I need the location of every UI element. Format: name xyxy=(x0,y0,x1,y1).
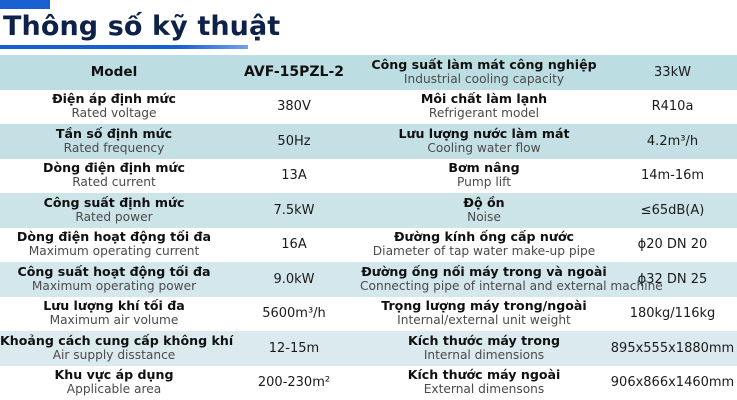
spec-label-en: External dimensons xyxy=(360,383,608,397)
spec-label-vi: Độ ồn xyxy=(360,196,608,210)
spec-label-left: Khoảng cách cung cấp không khíAir supply… xyxy=(0,331,228,366)
spec-label-en: Maximum operating current xyxy=(0,245,228,259)
spec-value-left: 12-15m xyxy=(228,331,360,366)
spec-value-left: 200-230m² xyxy=(228,366,360,400)
spec-label-right: Trọng lượng máy trong/ngoàiInternal/exte… xyxy=(360,297,608,332)
spec-label-left: Dòng điện định mứcRated current xyxy=(0,159,228,194)
table-row: Khu vực áp dụngApplicable area200-230m²K… xyxy=(0,366,737,400)
spec-label-vi: Dòng điện định mức xyxy=(0,161,228,175)
spec-label-vi: Đường kính ống cấp nước xyxy=(360,230,608,244)
spec-label-left: Khu vực áp dụngApplicable area xyxy=(0,366,228,400)
spec-value-left: 5600m³/h xyxy=(228,297,360,332)
spec-label-vi: Kích thước máy trong xyxy=(360,334,608,348)
spec-label-en: Rated power xyxy=(0,211,228,225)
spec-label-en: Applicable area xyxy=(0,383,228,397)
spec-value-left: 16A xyxy=(228,228,360,263)
spec-label-right: Công suất làm mát công nghiệpIndustrial … xyxy=(360,55,608,90)
table-row: Công suất hoạt động tối đaMaximum operat… xyxy=(0,262,737,297)
spec-sheet-page: Thông số kỹ thuật ModelAVF-15PZL-2Công s… xyxy=(0,0,737,400)
spec-label-right: Lưu lượng nước làm mátCooling water flow xyxy=(360,124,608,159)
spec-label-vi: Khu vực áp dụng xyxy=(0,368,228,382)
page-title: Thông số kỹ thuật xyxy=(3,9,280,45)
spec-label-vi: Lưu lượng nước làm mát xyxy=(360,127,608,141)
spec-value-left: 13A xyxy=(228,159,360,194)
spec-value-left: 9.0kW xyxy=(228,262,360,297)
spec-label-en: Internal/external unit weight xyxy=(360,314,608,328)
table-row: Lưu lượng khí tối đaMaximum air volume56… xyxy=(0,297,737,332)
spec-label-vi: Khoảng cách cung cấp không khí xyxy=(0,334,228,348)
spec-label-right: Môi chất làm lạnhRefrigerant model xyxy=(360,90,608,125)
spec-label-vi: Kích thước máy ngoài xyxy=(360,368,608,382)
spec-label-right: Đường kính ống cấp nướcDiameter of tap w… xyxy=(360,228,608,263)
spec-label-vi: Lưu lượng khí tối đa xyxy=(0,299,228,313)
spec-label-left: Dòng điện hoạt động tối đaMaximum operat… xyxy=(0,228,228,263)
table-row: Công suất định mứcRated power7.5kWĐộ ồnN… xyxy=(0,193,737,228)
spec-label-right: Độ ồnNoise xyxy=(360,193,608,228)
spec-value-left: 380V xyxy=(228,90,360,125)
spec-label-vi: Công suất định mức xyxy=(0,196,228,210)
spec-value-left: AVF-15PZL-2 xyxy=(228,55,360,90)
table-row: Tần số định mứcRated frequency50HzLưu lư… xyxy=(0,124,737,159)
spec-label-en: Pump lift xyxy=(360,176,608,190)
spec-label-en: Diameter of tap water make-up pipe xyxy=(360,245,608,259)
spec-label-left: Model xyxy=(0,55,228,90)
spec-value-right: ≤65dB(A) xyxy=(608,193,737,228)
spec-label-vi: Tần số định mức xyxy=(0,127,228,141)
spec-label-right: Kích thước máy ngoàiExternal dimensons xyxy=(360,366,608,400)
spec-label-en: Rated voltage xyxy=(0,107,228,121)
spec-label-en: Rated current xyxy=(0,176,228,190)
spec-label-en: Refrigerant model xyxy=(360,107,608,121)
spec-label-en: Connecting pipe of internal and external… xyxy=(360,280,608,294)
spec-value-right: R410a xyxy=(608,90,737,125)
spec-label-right: Kích thước máy trongInternal dimensions xyxy=(360,331,608,366)
spec-label-vi: Trọng lượng máy trong/ngoài xyxy=(360,299,608,313)
spec-label-vi: Điện áp định mức xyxy=(0,92,228,106)
spec-value-right: 895x555x1880mm xyxy=(608,331,737,366)
spec-value-right: 14m-16m xyxy=(608,159,737,194)
spec-label-vi: Môi chất làm lạnh xyxy=(360,92,608,106)
spec-label-vi: Công suất làm mát công nghiệp xyxy=(360,58,608,72)
spec-label-left: Điện áp định mứcRated voltage xyxy=(0,90,228,125)
spec-value-right: 906x866x1460mm xyxy=(608,366,737,400)
spec-value-right: 180kg/116kg xyxy=(608,297,737,332)
spec-value-left: 7.5kW xyxy=(228,193,360,228)
spec-label-en: Rated frequency xyxy=(0,142,228,156)
spec-label-vi: Công suất hoạt động tối đa xyxy=(0,265,228,279)
table-row: Khoảng cách cung cấp không khíAir supply… xyxy=(0,331,737,366)
spec-label-vi: Dòng điện hoạt động tối đa xyxy=(0,230,228,244)
spec-label-en: Noise xyxy=(360,211,608,225)
spec-label-en: Maximum operating power xyxy=(0,280,228,294)
specifications-table-body: ModelAVF-15PZL-2Công suất làm mát công n… xyxy=(0,55,737,400)
title-underline xyxy=(0,45,248,49)
spec-label-left: Công suất định mứcRated power xyxy=(0,193,228,228)
spec-value-right: 4.2m³/h xyxy=(608,124,737,159)
table-row: Dòng điện định mứcRated current13ABơm nâ… xyxy=(0,159,737,194)
table-row: ModelAVF-15PZL-2Công suất làm mát công n… xyxy=(0,55,737,90)
spec-label-left: Công suất hoạt động tối đaMaximum operat… xyxy=(0,262,228,297)
spec-label-left: Lưu lượng khí tối đaMaximum air volume xyxy=(0,297,228,332)
spec-label-en: Air supply disstance xyxy=(0,349,228,363)
spec-label-vi: Bơm nâng xyxy=(360,161,608,175)
spec-value-left: 50Hz xyxy=(228,124,360,159)
spec-label-en: Cooling water flow xyxy=(360,142,608,156)
spec-label-en: Internal dimensions xyxy=(360,349,608,363)
spec-label-vi: Đường ống nối máy trong và ngoài xyxy=(360,265,608,279)
spec-label-right: Bơm nângPump lift xyxy=(360,159,608,194)
spec-label-vi: Model xyxy=(0,65,228,80)
spec-label-left: Tần số định mứcRated frequency xyxy=(0,124,228,159)
table-row: Điện áp định mứcRated voltage380VMôi chấ… xyxy=(0,90,737,125)
specifications-table: ModelAVF-15PZL-2Công suất làm mát công n… xyxy=(0,55,737,400)
table-row: Dòng điện hoạt động tối đaMaximum operat… xyxy=(0,228,737,263)
spec-label-en: Maximum air volume xyxy=(0,314,228,328)
spec-label-en: Industrial cooling capacity xyxy=(360,73,608,87)
title-accent-bar xyxy=(0,0,50,9)
spec-value-right: 33kW xyxy=(608,55,737,90)
spec-value-right: ɸ20 DN 20 xyxy=(608,228,737,263)
spec-label-right: Đường ống nối máy trong và ngoàiConnecti… xyxy=(360,262,608,297)
